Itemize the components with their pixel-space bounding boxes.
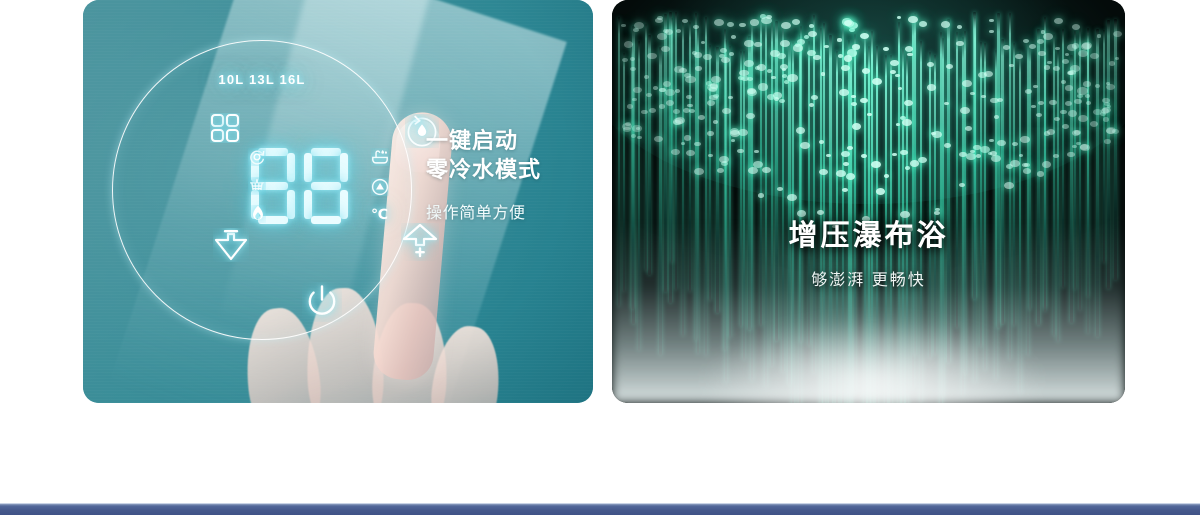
product-feature-page: 10L 13L 16L [0,0,1200,515]
left-headline-line2: 零冷水模式 [426,155,593,184]
capacity-label: 10L 13L 16L [83,72,441,87]
right-text-block: 增压瀑布浴 够澎湃 更畅快 [612,212,1125,290]
zero-cold-water-feature-card: 10L 13L 16L [83,0,593,403]
right-headline: 增压瀑布浴 [612,212,1125,254]
left-text-block: 一键启动 零冷水模式 操作简单方便 [426,126,593,223]
shower-head-icon[interactable] [248,177,266,200]
bathtub-icon[interactable] [371,148,389,171]
waterfall-shower-feature-card: 增压瀑布浴 够澎湃 更畅快 [612,0,1125,403]
power-button-icon[interactable] [302,282,342,327]
blower-icon[interactable] [371,178,389,201]
circulation-icon[interactable] [248,148,266,171]
decrease-arrow-icon[interactable] [213,228,249,267]
display-digit-2 [304,148,348,224]
increase-arrow-icon[interactable] [401,223,439,266]
left-headline-line1: 一键启动 [426,126,593,155]
right-subtext: 够澎湃 更畅快 [612,266,1125,290]
left-subtext: 操作简单方便 [426,199,593,223]
flame-icon[interactable] [250,205,266,228]
celsius-unit-icon: ℃ [371,206,388,223]
steam-mist-core [672,279,1072,403]
footer-divider-bar [0,503,1200,515]
grid-menu-icon[interactable] [210,113,240,148]
